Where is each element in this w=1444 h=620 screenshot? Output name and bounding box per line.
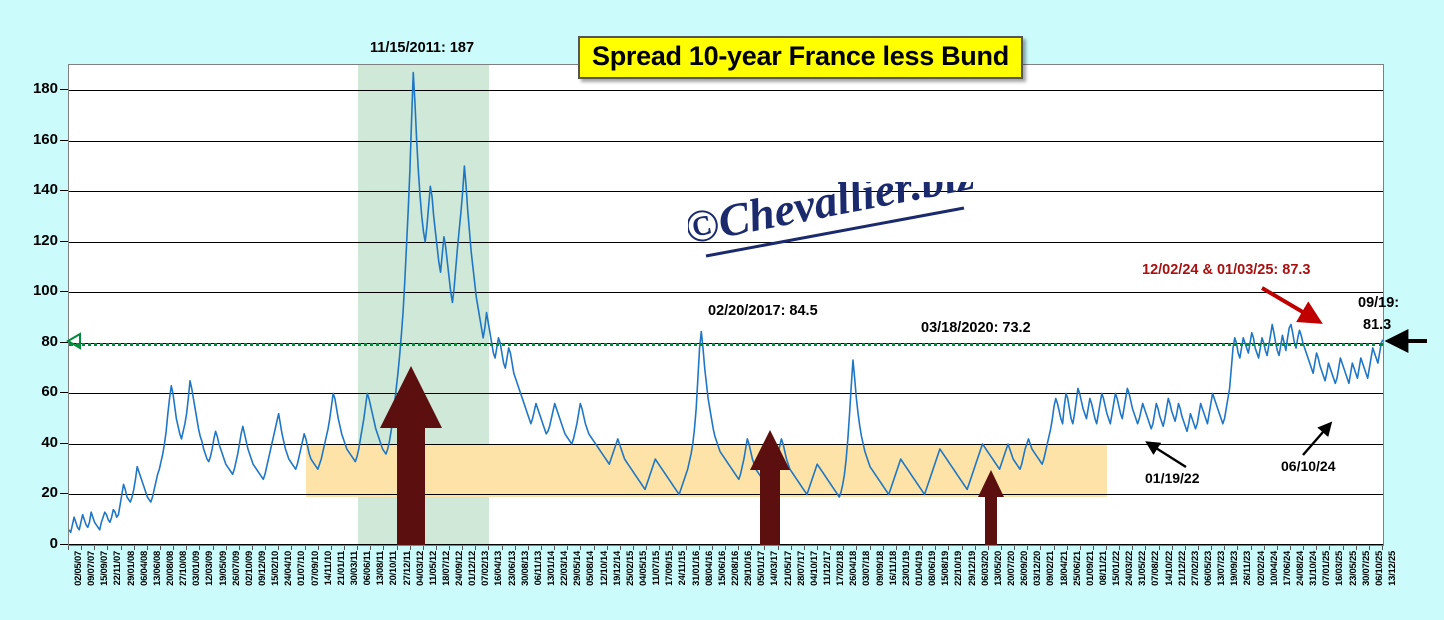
x-tick-label: 29/05/14 — [571, 551, 582, 586]
y-tick-mark — [60, 140, 68, 141]
y-tick-label: 60 — [14, 383, 58, 400]
x-tick-label: 29/01/08 — [125, 551, 136, 586]
x-tick-label: 14/03/17 — [768, 551, 779, 586]
x-tick-mark — [909, 546, 910, 550]
x-tick-mark — [134, 546, 135, 550]
x-tick-label: 13/05/20 — [992, 551, 1003, 586]
x-tick-mark — [488, 546, 489, 550]
x-tick-mark — [186, 546, 187, 550]
x-tick-mark — [620, 546, 621, 550]
x-tick-mark — [1106, 546, 1107, 550]
x-tick-mark — [804, 546, 805, 550]
x-tick-mark — [528, 546, 529, 550]
x-tick-label: 30/08/13 — [519, 551, 530, 586]
x-tick-mark — [843, 546, 844, 550]
x-tick-mark — [1316, 546, 1317, 550]
x-tick-label: 30/03/11 — [348, 551, 359, 585]
x-tick-mark — [672, 546, 673, 550]
x-tick-label: 03/12/20 — [1031, 551, 1042, 586]
x-tick-mark — [370, 546, 371, 550]
x-tick-mark — [160, 546, 161, 550]
x-tick-mark — [1040, 546, 1041, 550]
x-tick-label: 02/02/24 — [1255, 551, 1266, 586]
x-tick-mark — [1054, 546, 1055, 550]
x-tick-label: 20/08/08 — [164, 551, 175, 586]
x-tick-label: 22/11/07 — [111, 551, 122, 585]
x-tick-label: 06/03/20 — [979, 551, 990, 586]
x-tick-label: 06/04/08 — [138, 551, 149, 586]
x-tick-mark — [988, 546, 989, 550]
x-tick-label: 20/07/20 — [1005, 551, 1016, 586]
y-tick-mark — [60, 342, 68, 343]
annotation-peak-2011: 11/15/2011: 187 — [370, 40, 474, 56]
x-tick-label: 18/07/12 — [440, 551, 451, 586]
x-tick-label: 23/01/19 — [900, 551, 911, 586]
y-tick-mark — [60, 443, 68, 444]
x-tick-mark — [1369, 546, 1370, 550]
x-tick-mark — [1303, 546, 1304, 550]
x-tick-label: 15/01/22 — [1110, 551, 1121, 586]
x-tick-label: 06/10/25 — [1373, 551, 1384, 586]
x-tick-label: 22/10/19 — [952, 551, 963, 586]
x-tick-mark — [541, 546, 542, 550]
x-tick-label: 27/12/11 — [401, 551, 412, 585]
x-tick-label: 24/03/22 — [1123, 551, 1134, 586]
x-tick-label: 20/10/11 — [387, 551, 398, 585]
x-tick-label: 24/09/12 — [453, 551, 464, 586]
x-tick-label: 07/09/10 — [309, 551, 320, 586]
x-tick-label: 14/10/22 — [1163, 551, 1174, 586]
x-tick-label: 02/10/09 — [243, 551, 254, 586]
y-tick-mark — [60, 241, 68, 242]
x-tick-label: 18/04/21 — [1058, 551, 1069, 586]
x-tick-mark — [278, 546, 279, 550]
x-tick-mark — [1172, 546, 1173, 550]
x-tick-mark — [883, 546, 884, 550]
y-tick-mark — [60, 392, 68, 393]
x-tick-label: 17/06/24 — [1281, 551, 1292, 586]
x-tick-label: 11/05/12 — [427, 551, 438, 585]
x-tick-mark — [830, 546, 831, 550]
x-tick-label: 26/04/18 — [847, 551, 858, 586]
x-tick-mark — [68, 546, 69, 550]
x-tick-mark — [239, 546, 240, 550]
x-tick-label: 09/09/18 — [874, 551, 885, 586]
x-tick-mark — [1027, 546, 1028, 550]
x-tick-label: 09/07/07 — [85, 551, 96, 586]
x-tick-mark — [607, 546, 608, 550]
x-tick-label: 19/09/23 — [1228, 551, 1239, 586]
x-tick-mark — [751, 546, 752, 550]
x-tick-mark — [896, 546, 897, 550]
x-tick-label: 01/12/12 — [466, 551, 477, 586]
x-tick-mark — [1264, 546, 1265, 550]
x-tick-mark — [764, 546, 765, 550]
x-tick-label: 19/12/14 — [611, 551, 622, 586]
x-tick-label: 24/04/10 — [282, 551, 293, 586]
x-tick-label: 15/08/19 — [939, 551, 950, 586]
annotation-mark-2022: 01/19/22 — [1145, 470, 1200, 486]
x-tick-label: 29/12/19 — [966, 551, 977, 586]
x-tick-mark — [712, 546, 713, 550]
x-tick-mark — [817, 546, 818, 550]
x-tick-mark — [147, 546, 148, 550]
x-tick-mark — [922, 546, 923, 550]
x-tick-mark — [962, 546, 963, 550]
y-tick-label: 140 — [14, 181, 58, 198]
x-tick-mark — [1382, 546, 1383, 550]
x-tick-label: 08/11/21 — [1097, 551, 1108, 585]
x-tick-mark — [1080, 546, 1081, 550]
x-tick-mark — [646, 546, 647, 550]
x-tick-mark — [357, 546, 358, 550]
x-tick-label: 16/04/13 — [492, 551, 503, 586]
y-tick-mark — [60, 190, 68, 191]
x-tick-label: 22/08/16 — [729, 551, 740, 586]
x-tick-label: 27/02/23 — [1189, 551, 1200, 586]
y-tick-label: 40 — [14, 434, 58, 451]
x-tick-mark — [791, 546, 792, 550]
x-tick-mark — [594, 546, 595, 550]
x-tick-mark — [344, 546, 345, 550]
x-tick-label: 17/02/18 — [834, 551, 845, 586]
x-tick-mark — [1343, 546, 1344, 550]
x-tick-label: 12/10/14 — [598, 551, 609, 586]
x-tick-label: 15/06/16 — [716, 551, 727, 586]
x-tick-mark — [1093, 546, 1094, 550]
x-tick-label: 05/08/14 — [584, 551, 595, 586]
x-tick-label: 01/09/21 — [1084, 551, 1095, 586]
x-tick-mark — [173, 546, 174, 550]
x-tick-label: 24/11/15 — [676, 551, 687, 585]
x-tick-label: 11/07/15 — [650, 551, 661, 585]
x-tick-mark — [567, 546, 568, 550]
x-tick-label: 17/09/15 — [663, 551, 674, 586]
x-tick-mark — [1290, 546, 1291, 550]
x-tick-mark — [1329, 546, 1330, 550]
x-tick-label: 19/05/09 — [217, 551, 228, 586]
x-tick-mark — [1356, 546, 1357, 550]
x-tick-label: 27/10/08 — [177, 551, 188, 586]
x-tick-label: 21/01/11 — [335, 551, 346, 585]
x-tick-label: 23/05/25 — [1347, 551, 1358, 586]
annotation-peak-2020: 03/18/2020: 73.2 — [921, 320, 1031, 336]
x-tick-mark — [252, 546, 253, 550]
x-tick-label: 31/01/16 — [690, 551, 701, 586]
x-tick-mark — [1001, 546, 1002, 550]
x-tick-mark — [725, 546, 726, 550]
x-tick-mark — [856, 546, 857, 550]
x-tick-mark — [948, 546, 949, 550]
x-tick-mark — [870, 546, 871, 550]
x-tick-label: 28/07/17 — [795, 551, 806, 586]
x-tick-mark — [738, 546, 739, 550]
x-tick-label: 04/03/12 — [414, 551, 425, 586]
x-tick-label: 08/04/16 — [703, 551, 714, 586]
y-tick-label: 180 — [14, 80, 58, 97]
y-tick-mark — [60, 544, 68, 545]
x-tick-mark — [462, 546, 463, 550]
x-tick-mark — [1251, 546, 1252, 550]
x-tick-mark — [1224, 546, 1225, 550]
x-tick-label: 21/12/22 — [1176, 551, 1187, 586]
x-tick-mark — [778, 546, 779, 550]
x-tick-mark — [1277, 546, 1278, 550]
x-tick-label: 04/10/17 — [808, 551, 819, 586]
x-tick-label: 11/12/17 — [821, 551, 832, 585]
x-tick-label: 06/05/23 — [1202, 551, 1213, 586]
x-tick-mark — [699, 546, 700, 550]
x-tick-mark — [1198, 546, 1199, 550]
x-tick-label: 13/01/14 — [545, 551, 556, 586]
x-tick-label: 13/07/23 — [1215, 551, 1226, 586]
x-tick-mark — [291, 546, 292, 550]
x-tick-mark — [580, 546, 581, 550]
x-tick-mark — [107, 546, 108, 550]
x-tick-mark — [554, 546, 555, 550]
x-tick-label: 07/08/22 — [1149, 551, 1160, 586]
x-tick-label: 31/05/22 — [1136, 551, 1147, 586]
annotation-peak-2017: 02/20/2017: 84.5 — [708, 303, 818, 319]
x-tick-mark — [1067, 546, 1068, 550]
x-tick-label: 07/01/25 — [1320, 551, 1331, 586]
x-tick-label: 30/07/25 — [1360, 551, 1371, 586]
x-tick-mark — [502, 546, 503, 550]
x-tick-label: 29/10/16 — [742, 551, 753, 586]
x-tick-mark — [633, 546, 634, 550]
x-tick-label: 15/02/10 — [269, 551, 280, 586]
x-tick-mark — [94, 546, 95, 550]
x-tick-mark — [449, 546, 450, 550]
x-tick-label: 21/05/17 — [782, 551, 793, 586]
x-tick-mark — [331, 546, 332, 550]
x-tick-mark — [1159, 546, 1160, 550]
chart-root: 020406080100120140160180 02/05/0709/07/0… — [0, 0, 1444, 620]
x-tick-mark — [121, 546, 122, 550]
x-tick-mark — [515, 546, 516, 550]
annotation-last-value: 81.3 — [1363, 317, 1391, 333]
x-tick-label: 25/06/21 — [1071, 551, 1082, 586]
x-tick-mark — [1014, 546, 1015, 550]
x-tick-mark — [686, 546, 687, 550]
x-tick-mark — [397, 546, 398, 550]
x-tick-label: 13/06/08 — [151, 551, 162, 586]
x-tick-label: 09/12/09 — [256, 551, 267, 586]
x-tick-mark — [226, 546, 227, 550]
x-tick-mark — [659, 546, 660, 550]
y-tick-label: 0 — [14, 535, 58, 552]
x-tick-label: 26/11/23 — [1241, 551, 1252, 585]
x-tick-label: 15/09/07 — [98, 551, 109, 586]
annotation-last-date: 09/19: — [1358, 295, 1399, 311]
y-tick-label: 100 — [14, 282, 58, 299]
x-tick-label: 25/02/15 — [624, 551, 635, 586]
x-tick-label: 24/08/24 — [1294, 551, 1305, 586]
y-tick-label: 20 — [14, 484, 58, 501]
x-tick-label: 13/08/11 — [374, 551, 385, 585]
reference-line-80 — [69, 343, 1383, 346]
y-tick-label: 80 — [14, 333, 58, 350]
y-tick-label: 120 — [14, 232, 58, 249]
x-tick-label: 10/04/24 — [1268, 551, 1279, 586]
x-tick-label: 06/11/13 — [532, 551, 543, 585]
x-tick-label: 05/01/17 — [755, 551, 766, 586]
x-tick-label: 22/03/14 — [558, 551, 569, 586]
x-tick-mark — [410, 546, 411, 550]
x-tick-mark — [265, 546, 266, 550]
x-tick-mark — [213, 546, 214, 550]
x-tick-label: 06/06/11 — [361, 551, 372, 585]
x-tick-label: 02/05/07 — [72, 551, 83, 586]
x-tick-mark — [199, 546, 200, 550]
x-tick-label: 26/07/09 — [230, 551, 241, 586]
chart-title: Spread 10-year France less Bund — [578, 36, 1023, 79]
x-tick-label: 13/12/25 — [1386, 551, 1397, 586]
x-tick-label: 09/02/21 — [1044, 551, 1055, 586]
x-tick-label: 08/06/19 — [926, 551, 937, 586]
x-tick-label: 03/07/18 — [860, 551, 871, 586]
x-tick-label: 04/05/15 — [637, 551, 648, 586]
x-tick-label: 23/06/13 — [506, 551, 517, 586]
y-tick-mark — [60, 89, 68, 90]
x-tick-mark — [1132, 546, 1133, 550]
y-tick-label: 160 — [14, 131, 58, 148]
y-tick-mark — [60, 291, 68, 292]
x-tick-label: 16/03/25 — [1333, 551, 1344, 586]
x-tick-mark — [423, 546, 424, 550]
x-tick-mark — [383, 546, 384, 550]
x-tick-mark — [305, 546, 306, 550]
annotation-mark-2024: 06/10/24 — [1281, 458, 1336, 474]
annotation-peak-2024: 12/02/24 & 01/03/25: 87.3 — [1142, 262, 1311, 278]
x-tick-label: 26/09/20 — [1018, 551, 1029, 586]
x-tick-label: 16/11/18 — [887, 551, 898, 585]
x-tick-mark — [475, 546, 476, 550]
x-tick-mark — [935, 546, 936, 550]
x-tick-mark — [1119, 546, 1120, 550]
x-tick-mark — [1211, 546, 1212, 550]
x-tick-label: 14/11/10 — [322, 551, 333, 585]
x-axis: 02/05/0709/07/0715/09/0722/11/0729/01/08… — [68, 546, 1384, 620]
x-tick-mark — [81, 546, 82, 550]
x-tick-label: 01/07/10 — [295, 551, 306, 586]
x-tick-label: 07/02/13 — [479, 551, 490, 586]
x-tick-mark — [436, 546, 437, 550]
x-tick-mark — [1237, 546, 1238, 550]
x-tick-mark — [318, 546, 319, 550]
y-tick-mark — [60, 493, 68, 494]
x-tick-mark — [1185, 546, 1186, 550]
x-tick-label: 01/04/19 — [913, 551, 924, 586]
x-tick-label: 12/03/09 — [203, 551, 214, 586]
x-tick-mark — [975, 546, 976, 550]
x-tick-label: 31/10/24 — [1307, 551, 1318, 586]
x-tick-label: 03/01/09 — [190, 551, 201, 586]
x-tick-mark — [1145, 546, 1146, 550]
